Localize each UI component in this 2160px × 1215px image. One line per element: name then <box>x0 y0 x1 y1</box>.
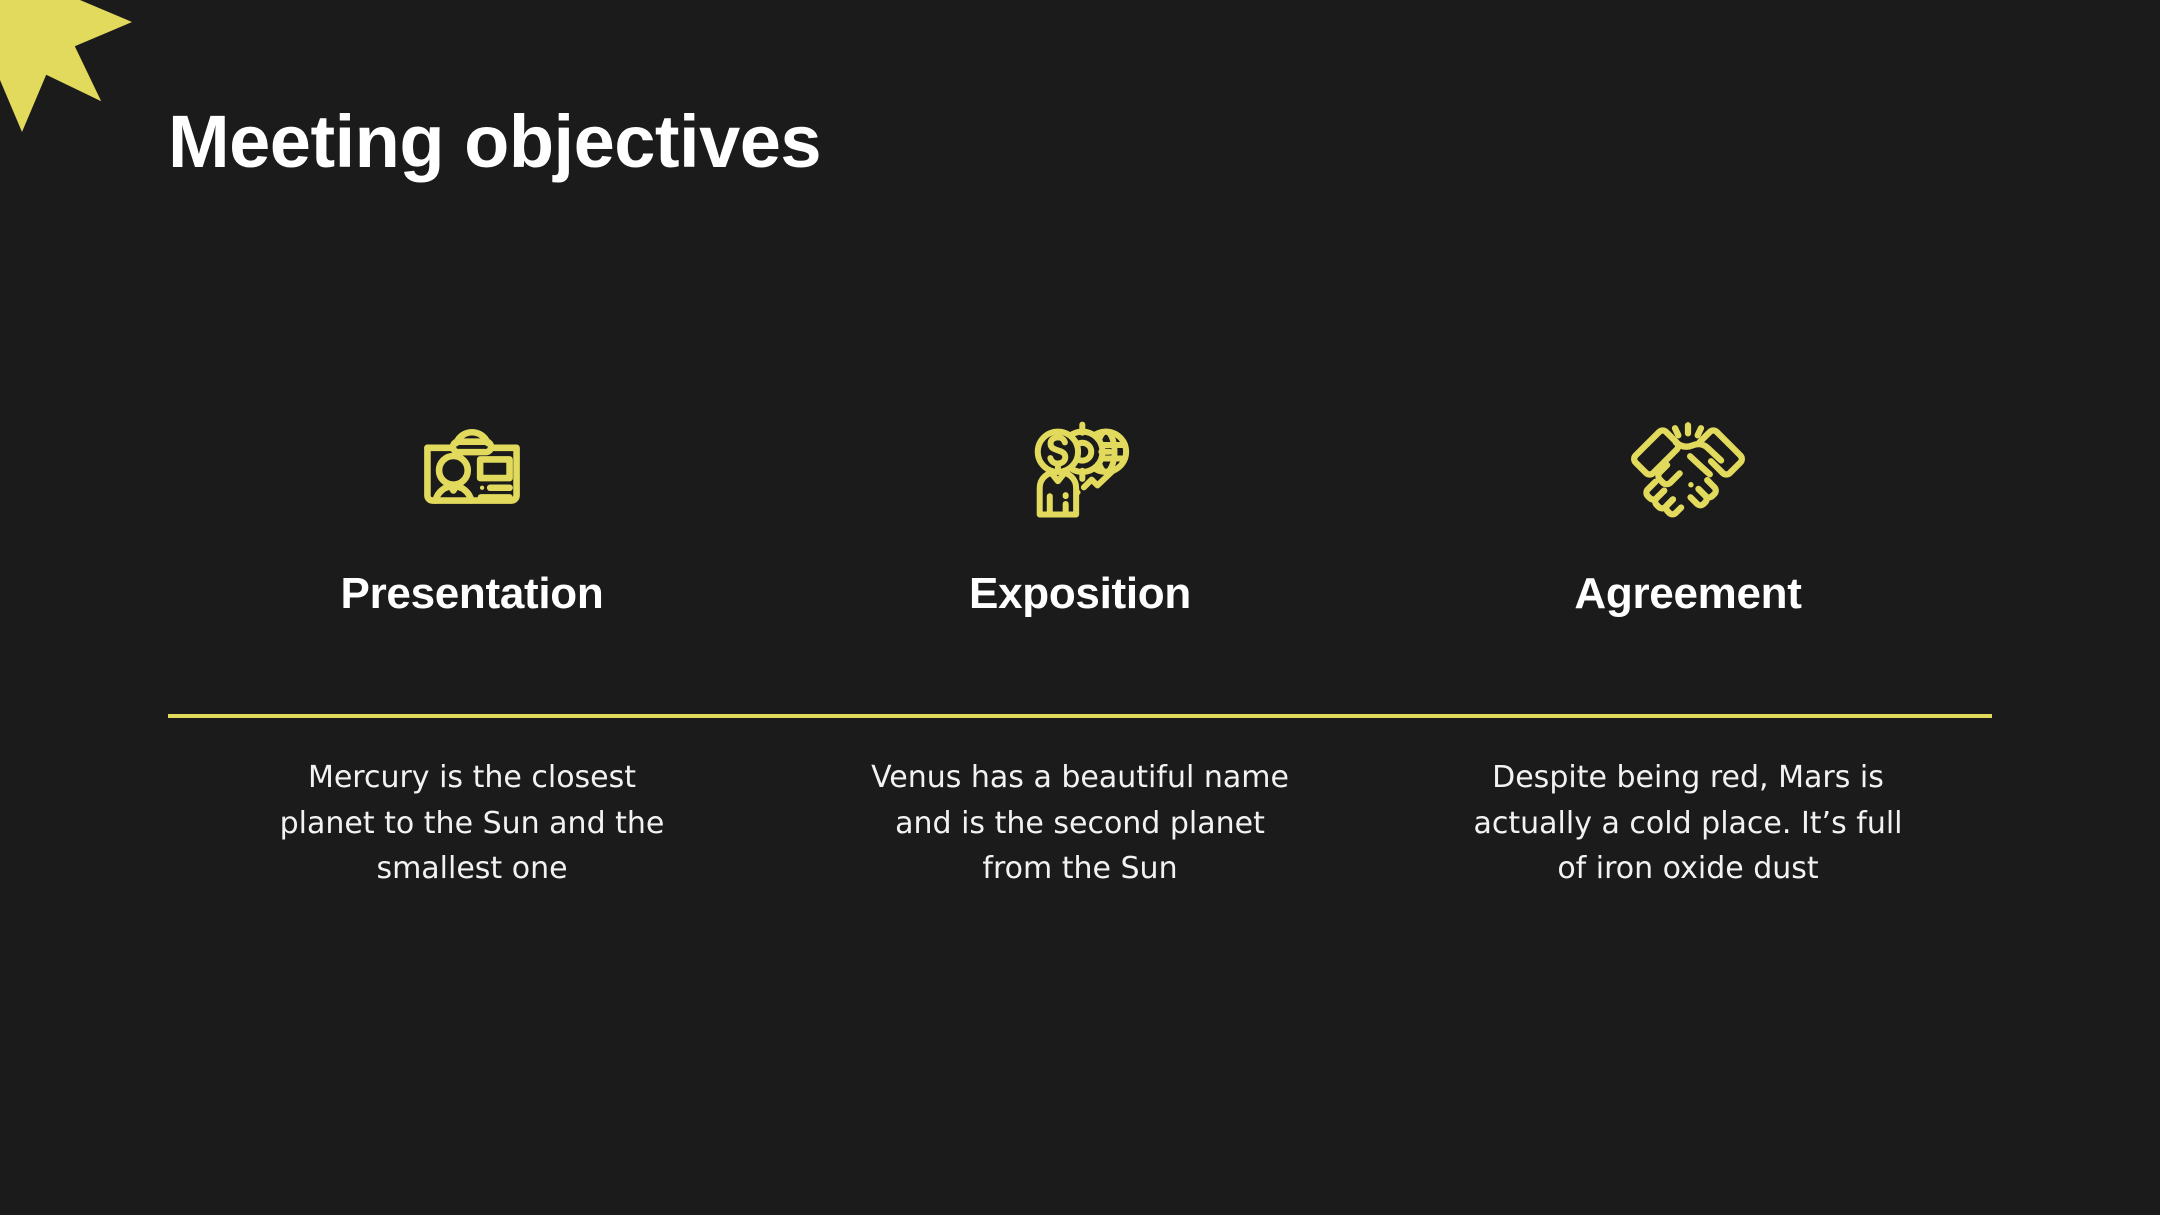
handshake-icon <box>1621 395 1755 540</box>
description-cell: Venus has a beautiful name and is the se… <box>776 755 1384 892</box>
objective-heading: Agreement <box>1574 570 1801 618</box>
objective-heading: Presentation <box>341 570 604 618</box>
money-market-icon <box>1018 395 1142 540</box>
starburst-icon <box>0 0 132 132</box>
objective-description: Despite being red, Mars is actually a co… <box>1473 755 1903 892</box>
objective-description: Venus has a beautiful name and is the se… <box>865 755 1295 892</box>
objectives-columns: Presentation <box>168 395 1992 618</box>
objective-column-presentation: Presentation <box>168 395 776 618</box>
objective-column-exposition: Exposition <box>776 395 1384 618</box>
objective-description: Mercury is the closest planet to the Sun… <box>257 755 687 892</box>
description-cell: Mercury is the closest planet to the Sun… <box>168 755 776 892</box>
id-badge-icon <box>410 395 534 540</box>
page-title: Meeting objectives <box>168 105 821 179</box>
section-divider <box>168 714 1992 718</box>
objective-heading: Exposition <box>969 570 1191 618</box>
objective-column-agreement: Agreement <box>1384 395 1992 618</box>
slide-canvas: Meeting objectives <box>0 0 2160 1215</box>
objectives-descriptions: Mercury is the closest planet to the Sun… <box>168 755 1992 892</box>
description-cell: Despite being red, Mars is actually a co… <box>1384 755 1992 892</box>
